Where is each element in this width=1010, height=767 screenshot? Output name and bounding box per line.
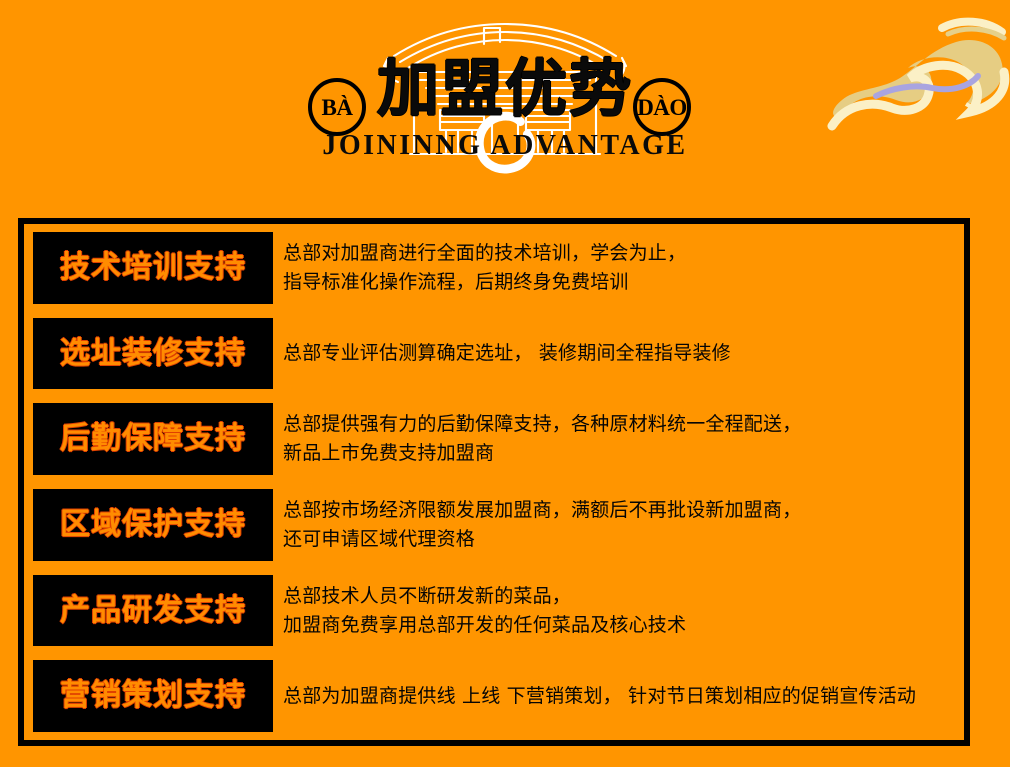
advantage-label-text: 营销策划支持 <box>60 681 246 711</box>
advantage-description: 总部对加盟商进行全面的技术培训，学会为止，指导标准化操作流程，后期终身免费培训 <box>273 232 956 304</box>
advantage-description-line: 总部为加盟商提供线 上线 下营销策划， 针对节日策划相应的促销宣传活动 <box>283 682 942 711</box>
advantage-row: 技术培训支持总部对加盟商进行全面的技术培训，学会为止，指导标准化操作流程，后期终… <box>33 232 956 304</box>
advantage-description-line: 总部按市场经济限额发展加盟商，满额后不再批设新加盟商， <box>283 496 942 525</box>
page-title: 加盟优势 <box>377 58 633 120</box>
advantage-label-box: 选址装修支持 <box>33 318 273 390</box>
advantage-label-box: 技术培训支持 <box>33 232 273 304</box>
advantage-label-box: 产品研发支持 <box>33 575 273 647</box>
advantage-description-line: 新品上市免费支持加盟商 <box>283 439 942 468</box>
page-header: BÀ DÀO 加盟优势 JOININNG ADVANTAGE <box>0 0 1010 205</box>
seal-badge-ba-text: BÀ <box>322 96 353 119</box>
advantage-label-box: 后勤保障支持 <box>33 403 273 475</box>
advantage-label-box: 区域保护支持 <box>33 489 273 561</box>
advantage-description-line: 总部专业评估测算确定选址， 装修期间全程指导装修 <box>283 339 942 368</box>
advantage-panel: 技术培训支持总部对加盟商进行全面的技术培训，学会为止，指导标准化操作流程，后期终… <box>18 218 970 746</box>
seal-badge-ba: BÀ <box>308 78 366 136</box>
advantage-row: 后勤保障支持总部提供强有力的后勤保障支持，各种原材料统一全程配送，新品上市免费支… <box>33 403 956 475</box>
advantage-description-line: 还可申请区域代理资格 <box>283 525 942 554</box>
page-subtitle: JOININNG ADVANTAGE <box>322 132 687 160</box>
advantage-description-line: 加盟商免费享用总部开发的任何菜品及核心技术 <box>283 611 942 640</box>
advantage-description-line: 总部提供强有力的后勤保障支持，各种原材料统一全程配送， <box>283 410 942 439</box>
advantage-description: 总部按市场经济限额发展加盟商，满额后不再批设新加盟商，还可申请区域代理资格 <box>273 489 956 561</box>
advantage-row: 区域保护支持总部按市场经济限额发展加盟商，满额后不再批设新加盟商，还可申请区域代… <box>33 489 956 561</box>
advantage-description: 总部技术人员不断研发新的菜品，加盟商免费享用总部开发的任何菜品及核心技术 <box>273 575 956 647</box>
advantage-list: 技术培训支持总部对加盟商进行全面的技术培训，学会为止，指导标准化操作流程，后期终… <box>33 232 956 732</box>
advantage-description: 总部专业评估测算确定选址， 装修期间全程指导装修 <box>273 318 956 390</box>
advantage-row: 营销策划支持总部为加盟商提供线 上线 下营销策划， 针对节日策划相应的促销宣传活… <box>33 660 956 732</box>
advantage-description: 总部提供强有力的后勤保障支持，各种原材料统一全程配送，新品上市免费支持加盟商 <box>273 403 956 475</box>
advantage-label-text: 后勤保障支持 <box>60 424 246 454</box>
advantage-row: 产品研发支持总部技术人员不断研发新的菜品，加盟商免费享用总部开发的任何菜品及核心… <box>33 575 956 647</box>
advantage-description: 总部为加盟商提供线 上线 下营销策划， 针对节日策划相应的促销宣传活动 <box>273 660 956 732</box>
advantage-description-line: 指导标准化操作流程，后期终身免费培训 <box>283 268 942 297</box>
advantage-label-box: 营销策划支持 <box>33 660 273 732</box>
advantage-label-text: 选址装修支持 <box>60 339 246 369</box>
advantage-label-text: 技术培训支持 <box>60 253 246 283</box>
advantage-description-line: 总部技术人员不断研发新的菜品， <box>283 582 942 611</box>
advantage-label-text: 产品研发支持 <box>60 596 246 626</box>
seal-badge-dao: DÀO <box>633 78 691 136</box>
advantage-row: 选址装修支持总部专业评估测算确定选址， 装修期间全程指导装修 <box>33 318 956 390</box>
advantage-description-line: 总部对加盟商进行全面的技术培训，学会为止， <box>283 239 942 268</box>
seal-badge-dao-text: DÀO <box>637 96 687 119</box>
advantage-label-text: 区域保护支持 <box>60 510 246 540</box>
